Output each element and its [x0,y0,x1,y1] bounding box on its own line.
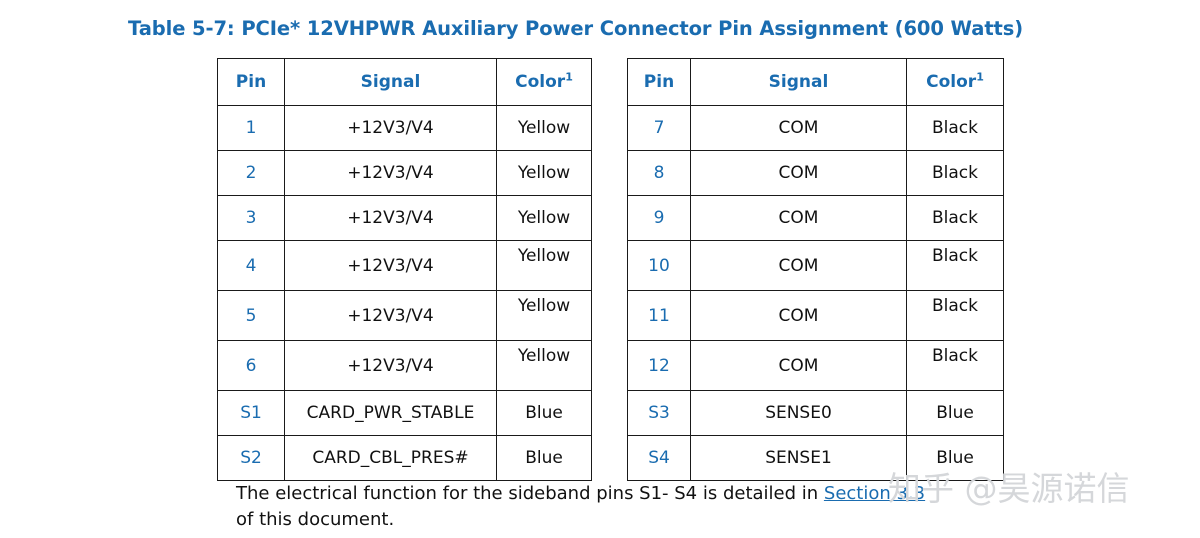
column-header-color-label: Color [926,72,976,92]
cell-signal: COM [691,151,907,196]
cell-signal: COM [691,196,907,241]
table-row: 1+12V3/V4Yellow [218,106,592,151]
cell-color: Yellow [497,196,592,241]
cell-signal: SENSE0 [691,391,907,436]
cell-color: Blue [907,391,1004,436]
cell-color: Black [907,291,1004,341]
column-header-color-label: Color [515,72,565,92]
table-row: 6+12V3/V4Yellow [218,341,592,391]
cell-color: Black [907,106,1004,151]
cell-signal: COM [691,241,907,291]
table-row: 5+12V3/V4Yellow [218,291,592,341]
cell-pin: S2 [218,436,285,481]
cell-signal: +12V3/V4 [285,106,497,151]
cell-pin: 6 [218,341,285,391]
cell-pin: 11 [628,291,691,341]
cell-signal: COM [691,291,907,341]
cell-pin: 3 [218,196,285,241]
cell-signal: +12V3/V4 [285,341,497,391]
cell-signal: COM [691,106,907,151]
table-row: S3SENSE0Blue [628,391,1004,436]
cell-signal: +12V3/V4 [285,291,497,341]
cell-color: Yellow [497,291,592,341]
table-row: 4+12V3/V4Yellow [218,241,592,291]
cell-signal: CARD_CBL_PRES# [285,436,497,481]
cell-pin: 5 [218,291,285,341]
cell-pin: 2 [218,151,285,196]
footnote-text-before-link: The electrical function for the sideband… [236,483,824,504]
cell-pin: 12 [628,341,691,391]
cell-color: Yellow [497,106,592,151]
cell-pin: S3 [628,391,691,436]
cell-signal: CARD_PWR_STABLE [285,391,497,436]
cell-pin: 4 [218,241,285,291]
pin-assignment-table-left: Pin Signal Color1 1+12V3/V4Yellow2+12V3/… [217,58,592,481]
column-header-color: Color1 [497,59,592,106]
table-row: 8COMBlack [628,151,1004,196]
cell-signal: SENSE1 [691,436,907,481]
cell-color: Black [907,341,1004,391]
column-header-color-footnote-marker: 1 [565,70,573,83]
cell-color: Black [907,151,1004,196]
cell-pin: 8 [628,151,691,196]
cell-pin: S1 [218,391,285,436]
page-title: Table 5-7: PCIe* 12VHPWR Auxiliary Power… [128,17,1023,40]
table-row: 9COMBlack [628,196,1004,241]
pin-assignment-table-right: Pin Signal Color1 7COMBlack8COMBlack9COM… [627,58,1004,481]
table-row: 10COMBlack [628,241,1004,291]
cell-pin: 7 [628,106,691,151]
cell-color: Yellow [497,241,592,291]
table-row: S2CARD_CBL_PRES#Blue [218,436,592,481]
column-header-signal: Signal [285,59,497,106]
cell-color: Yellow [497,341,592,391]
footnote-text-after-link: of this document. [236,509,394,530]
table-row: 3+12V3/V4Yellow [218,196,592,241]
cell-signal: +12V3/V4 [285,241,497,291]
table-row: 12COMBlack [628,341,1004,391]
cell-signal: COM [691,341,907,391]
column-header-pin: Pin [218,59,285,106]
table-row: S1CARD_PWR_STABLEBlue [218,391,592,436]
cell-color: Blue [907,436,1004,481]
cell-pin: S4 [628,436,691,481]
table-row: 11COMBlack [628,291,1004,341]
table-header-row: Pin Signal Color1 [628,59,1004,106]
column-header-pin: Pin [628,59,691,106]
cell-signal: +12V3/V4 [285,196,497,241]
cell-color: Blue [497,436,592,481]
footnote-paragraph: The electrical function for the sideband… [236,481,936,533]
table-row: S4SENSE1Blue [628,436,1004,481]
cell-color: Blue [497,391,592,436]
cell-pin: 9 [628,196,691,241]
column-header-signal: Signal [691,59,907,106]
cell-color: Black [907,241,1004,291]
table-row: 2+12V3/V4Yellow [218,151,592,196]
cell-color: Yellow [497,151,592,196]
cell-signal: +12V3/V4 [285,151,497,196]
cell-pin: 10 [628,241,691,291]
cell-color: Black [907,196,1004,241]
table-row: 7COMBlack [628,106,1004,151]
table-header-row: Pin Signal Color1 [218,59,592,106]
cell-pin: 1 [218,106,285,151]
column-header-color: Color1 [907,59,1004,106]
column-header-color-footnote-marker: 1 [976,70,984,83]
section-3-3-link[interactable]: Section 3.3 [824,483,925,504]
